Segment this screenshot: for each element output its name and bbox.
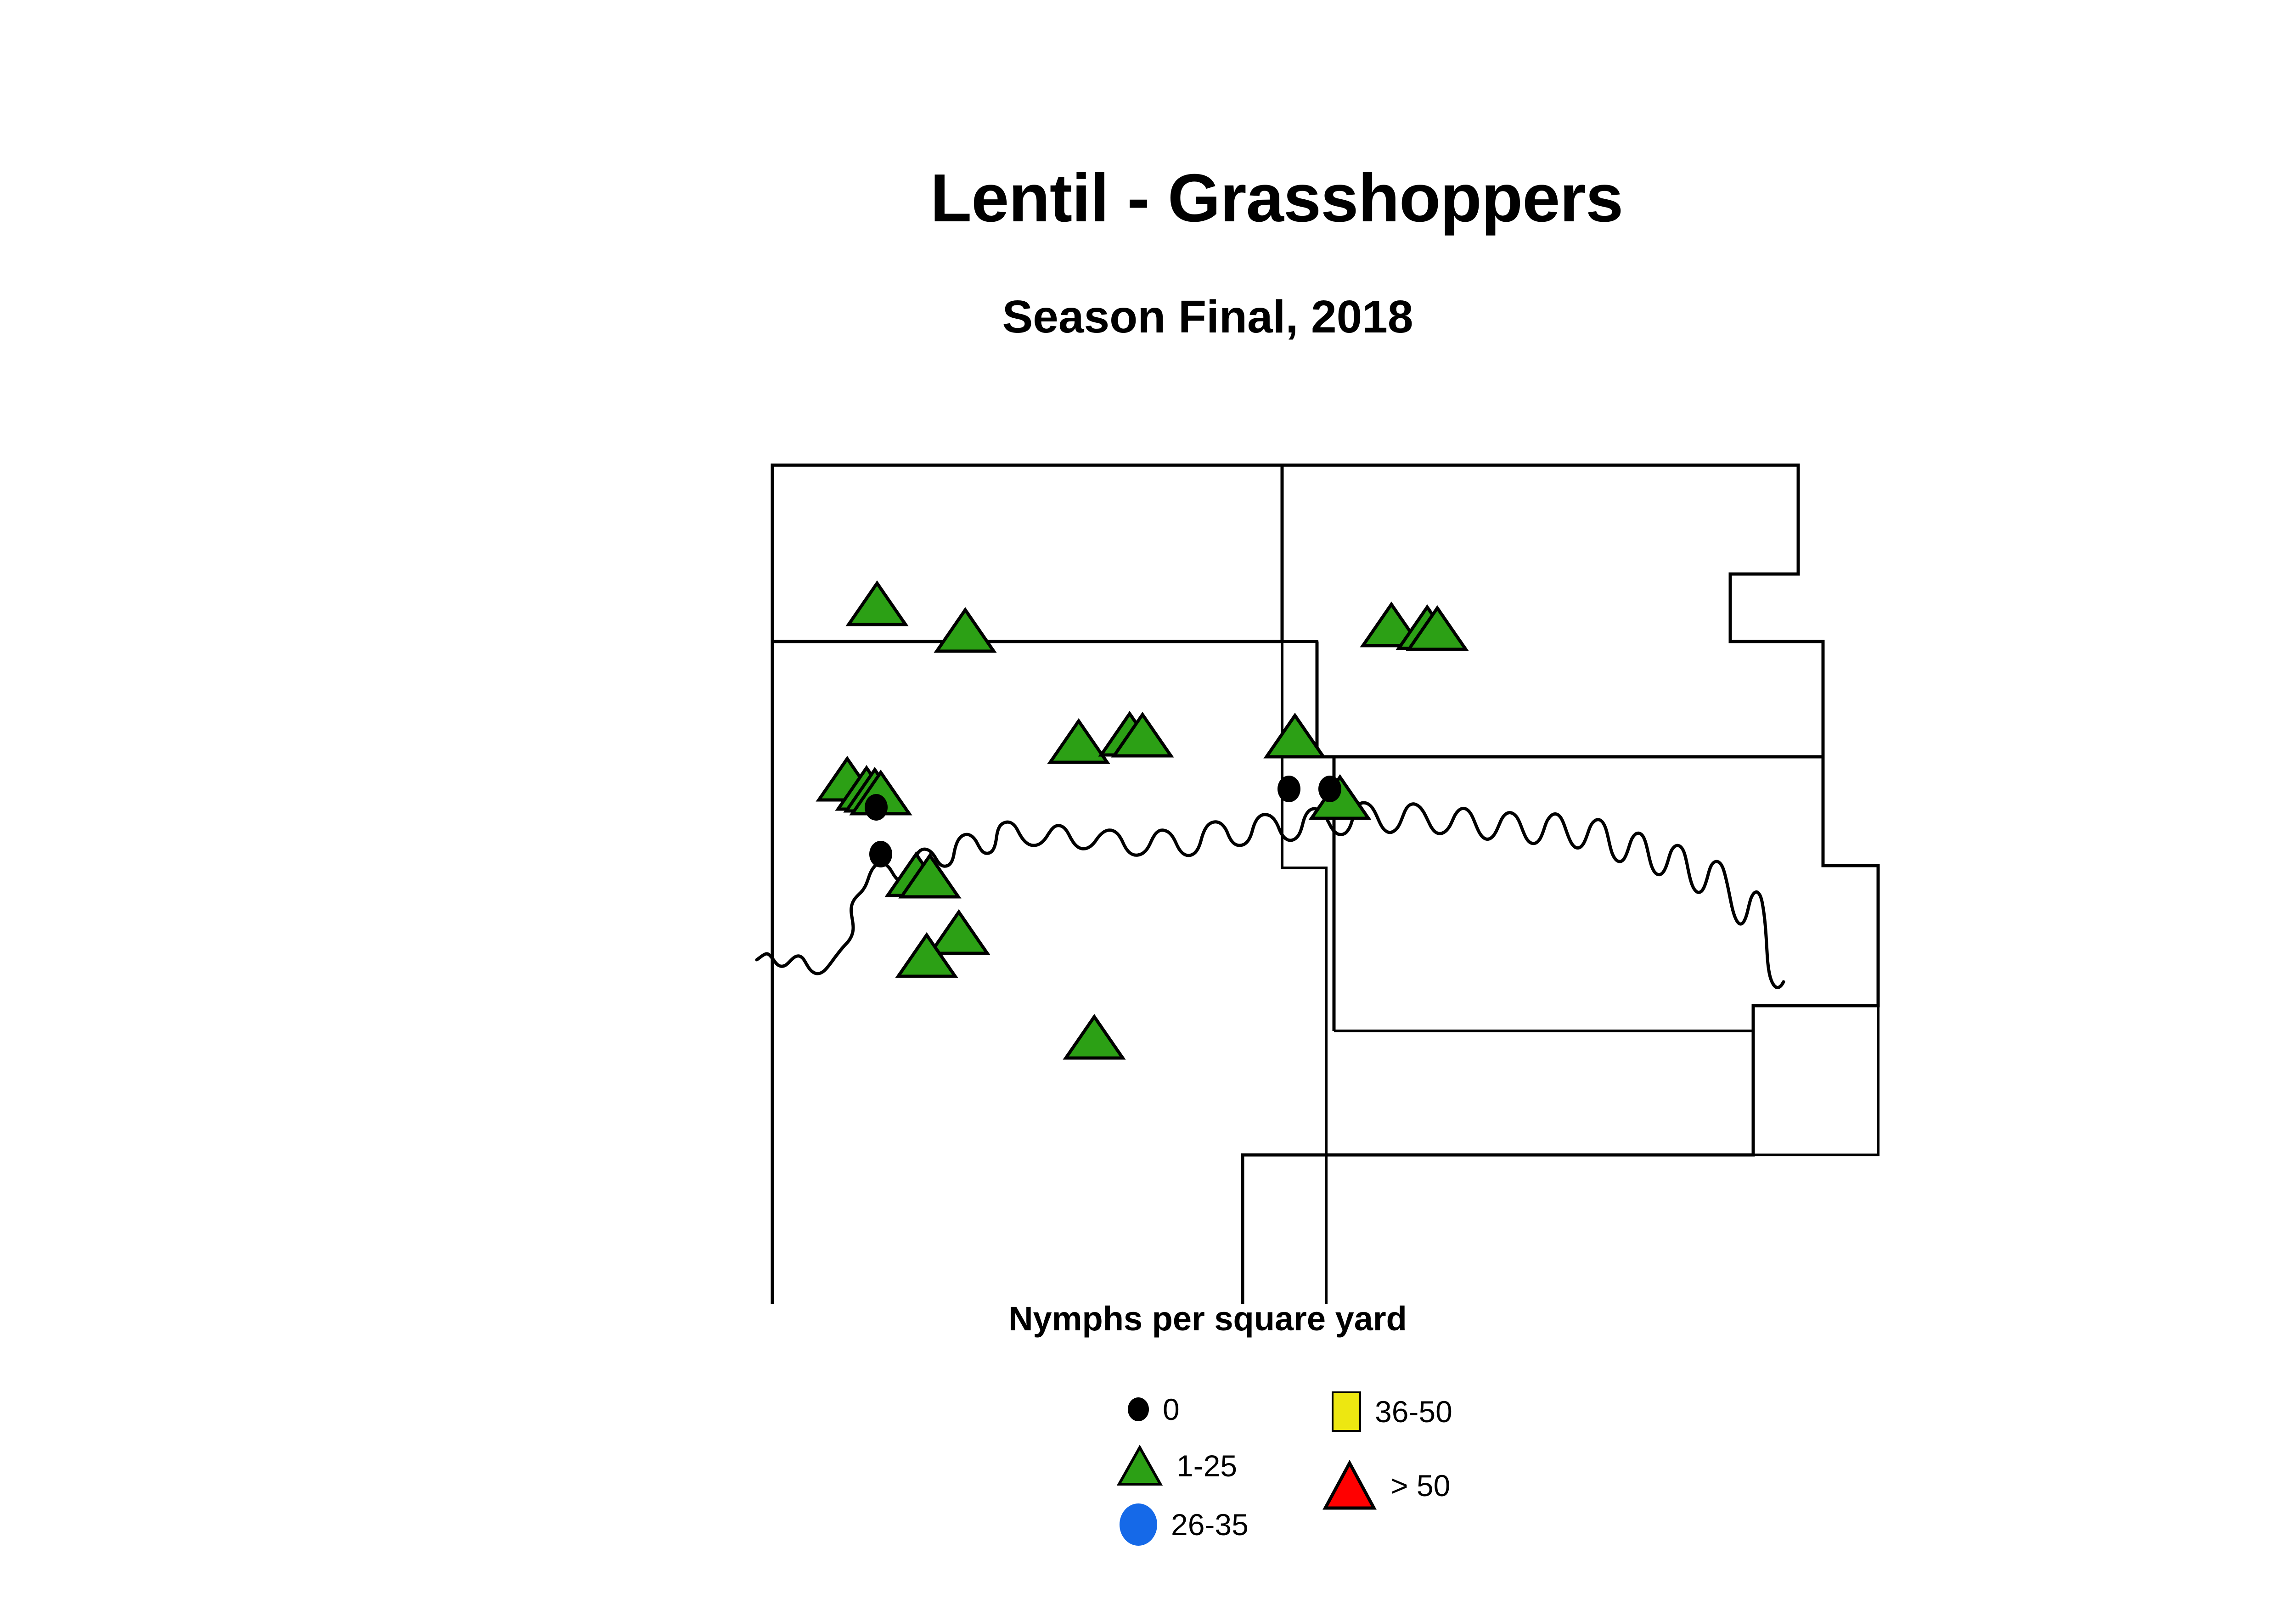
legend-item-0: 0 [1128, 1394, 1180, 1424]
legend-item-1-25: 1-25 [1117, 1445, 1237, 1487]
map-figure [744, 441, 1919, 1304]
legend: 0 1-25 26-35 36-50 [1107, 1387, 1795, 1580]
legend-item-36-50: 36-50 [1332, 1391, 1452, 1432]
marker-dot [869, 841, 892, 867]
map-page: Lentil - Grasshoppers Season Final, 2018 [0, 0, 2296, 1610]
marker-dot [865, 794, 888, 821]
legend-label: > 50 [1390, 1470, 1450, 1501]
yellow-square-icon [1332, 1391, 1361, 1432]
legend-label: 36-50 [1375, 1396, 1452, 1427]
page-subtitle: Season Final, 2018 [0, 294, 2296, 340]
blue-circle-icon [1120, 1503, 1157, 1546]
marker-triangle [849, 583, 906, 625]
map-svg [744, 441, 1919, 1304]
legend-label: 1-25 [1176, 1451, 1237, 1481]
legend-label: 0 [1163, 1394, 1180, 1424]
marker-group-black-dots [865, 776, 1341, 867]
black-dot-icon [1128, 1397, 1149, 1421]
county-ne [1282, 465, 1823, 757]
legend-label: 26-35 [1171, 1509, 1249, 1540]
green-triangle-icon [1117, 1445, 1163, 1487]
marker-group-green-triangles [819, 583, 1466, 1058]
page-title: Lentil - Grasshoppers [0, 164, 2296, 232]
marker-triangle [1066, 1017, 1123, 1058]
marker-triangle [930, 912, 987, 953]
marker-dot [1318, 776, 1341, 802]
legend-item-26-35: 26-35 [1120, 1503, 1249, 1546]
red-triangle-icon [1322, 1460, 1377, 1511]
county-nw [772, 465, 1282, 642]
legend-title: Nymphs per square yard [0, 1302, 2296, 1336]
marker-dot [1277, 776, 1300, 802]
marker-triangle [1266, 715, 1323, 757]
marker-triangle [937, 610, 994, 651]
data-markers [819, 583, 1466, 1058]
legend-item-gt-50: > 50 [1322, 1460, 1450, 1511]
